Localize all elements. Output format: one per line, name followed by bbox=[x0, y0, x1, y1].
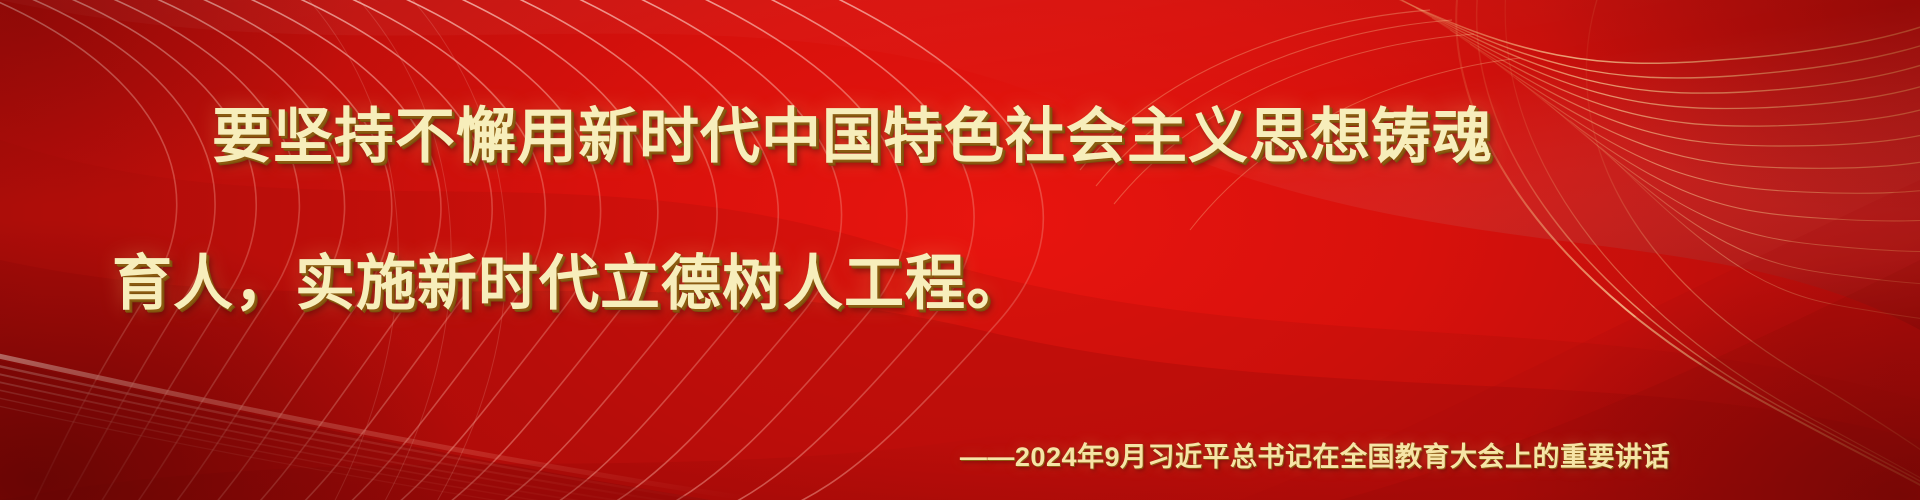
banner-content: 要坚持不懈用新时代中国特色社会主义思想铸魂 育人，实施新时代立德树人工程。 ——… bbox=[0, 0, 1920, 500]
quote-attribution: ——2024年9月习近平总书记在全国教育大会上的重要讲话 bbox=[90, 435, 1830, 474]
quote-line-1: 要坚持不懈用新时代中国特色社会主义思想铸魂 bbox=[90, 100, 1830, 174]
quote-text: 要坚持不懈用新时代中国特色社会主义思想铸魂 育人，实施新时代立德树人工程。 bbox=[90, 26, 1830, 395]
quote-line-2: 育人，实施新时代立德树人工程。 bbox=[90, 247, 1830, 321]
red-banner: 要坚持不懈用新时代中国特色社会主义思想铸魂 育人，实施新时代立德树人工程。 ——… bbox=[0, 0, 1920, 500]
